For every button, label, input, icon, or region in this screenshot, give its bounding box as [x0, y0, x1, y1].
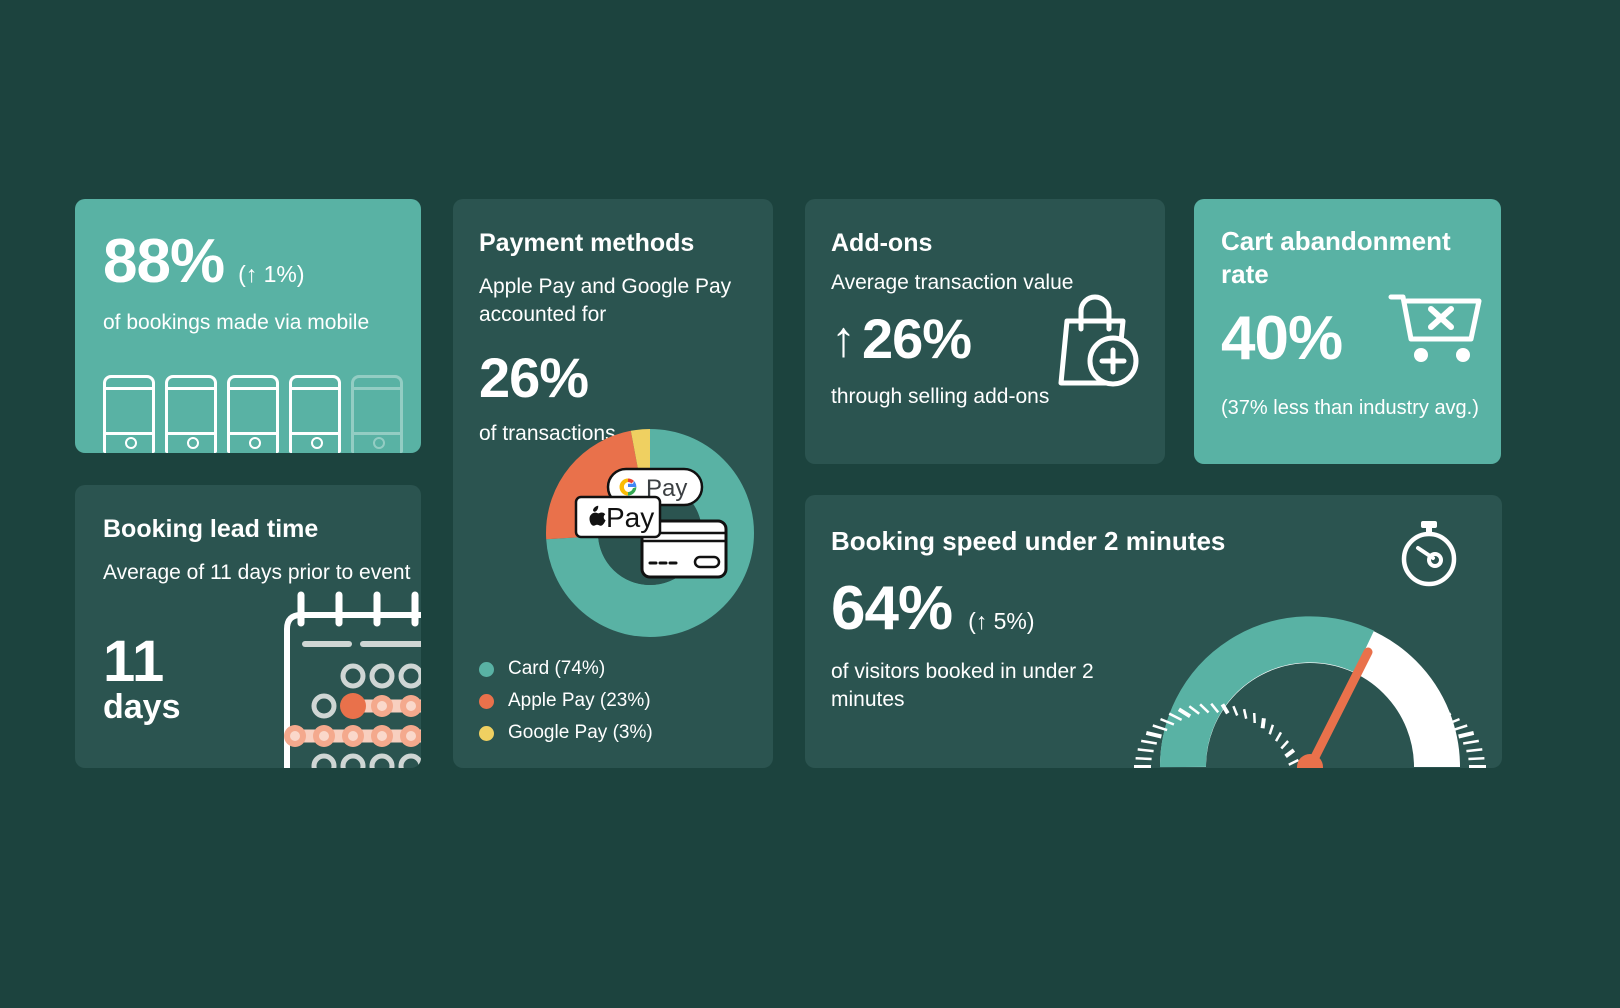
legend-item: Google Pay (3%)	[479, 722, 653, 744]
mobile-phone-icon	[289, 375, 341, 453]
cart-note: (37% less than industry avg.)	[1221, 397, 1479, 420]
mobile-delta: (↑ 1%)	[238, 261, 304, 288]
apple-pay-label: Pay	[606, 502, 654, 533]
legend-item: Card (74%)	[479, 658, 653, 680]
lead-time-days-unit: days	[103, 689, 181, 726]
addons-percentage: 26%	[862, 311, 971, 367]
calendar-icon	[283, 593, 421, 768]
mobile-phone-icon	[165, 375, 217, 453]
apple-pay-badge: Pay	[576, 497, 660, 537]
shopping-bag-plus-icon	[1049, 291, 1141, 389]
lead-time-subtitle: Average of 11 days prior to event	[103, 559, 421, 587]
legend-color-swatch	[479, 726, 494, 741]
card-mobile-bookings: 88% (↑ 1%) of bookings made via mobile	[75, 199, 421, 453]
speed-subtitle: of visitors booked in under 2 minutes	[831, 658, 1096, 713]
card-addons: Add-ons Average transaction value ↑ 26% …	[805, 199, 1165, 464]
legend-color-swatch	[479, 694, 494, 709]
mobile-phone-pictogram	[103, 375, 403, 453]
card-booking-speed: Booking speed under 2 minutes 64% (↑ 5%)…	[805, 495, 1502, 768]
lead-time-value-block: 11 days	[103, 634, 181, 726]
payment-methods-legend: Card (74%) Apple Pay (23%) Google Pay (3…	[479, 658, 653, 744]
legend-color-swatch	[479, 662, 494, 677]
card-cart-abandonment: Cart abandonment rate 40% (37% less than…	[1194, 199, 1501, 464]
mobile-subtitle: of bookings made via mobile	[103, 309, 421, 337]
payments-subtitle: Apple Pay and Google Pay accounted for	[479, 273, 747, 328]
mobile-phone-icon-faded	[351, 375, 403, 453]
card-booking-lead-time: Booking lead time Average of 11 days pri…	[75, 485, 421, 768]
speed-title: Booking speed under 2 minutes	[831, 525, 1155, 558]
cart-title: Cart abandonment rate	[1221, 225, 1461, 292]
cart-remove-icon	[1389, 291, 1489, 363]
arrow-up-icon: ↑	[831, 314, 856, 364]
payments-title: Payment methods	[479, 227, 747, 259]
lead-time-days-number: 11	[103, 634, 181, 689]
mobile-value-row: 88% (↑ 1%)	[103, 231, 421, 293]
lead-time-title: Booking lead time	[103, 513, 421, 545]
mobile-phone-icon	[103, 375, 155, 453]
mobile-phone-icon	[227, 375, 279, 453]
payments-percentage: 26%	[479, 350, 747, 406]
legend-label: Apple Pay (23%)	[508, 690, 651, 712]
legend-item: Apple Pay (23%)	[479, 690, 653, 712]
gauge-needle	[1297, 652, 1368, 768]
speed-value-row: 64% (↑ 5%)	[831, 578, 1155, 640]
legend-label: Google Pay (3%)	[508, 722, 653, 744]
infographic-board: 88% (↑ 1%) of bookings made via mobile B…	[0, 0, 1620, 1008]
legend-label: Card (74%)	[508, 658, 605, 680]
mobile-percentage: 88%	[103, 231, 224, 293]
speed-percentage: 64%	[831, 578, 952, 640]
payment-methods-donut-chart: Pay Pay	[546, 429, 754, 637]
stopwatch-icon	[1396, 513, 1462, 587]
card-payment-methods: Payment methods Apple Pay and Google Pay…	[453, 199, 773, 768]
addons-title: Add-ons	[831, 227, 1165, 259]
speed-delta: (↑ 5%)	[968, 608, 1034, 635]
booking-speed-gauge-chart	[1115, 579, 1502, 768]
